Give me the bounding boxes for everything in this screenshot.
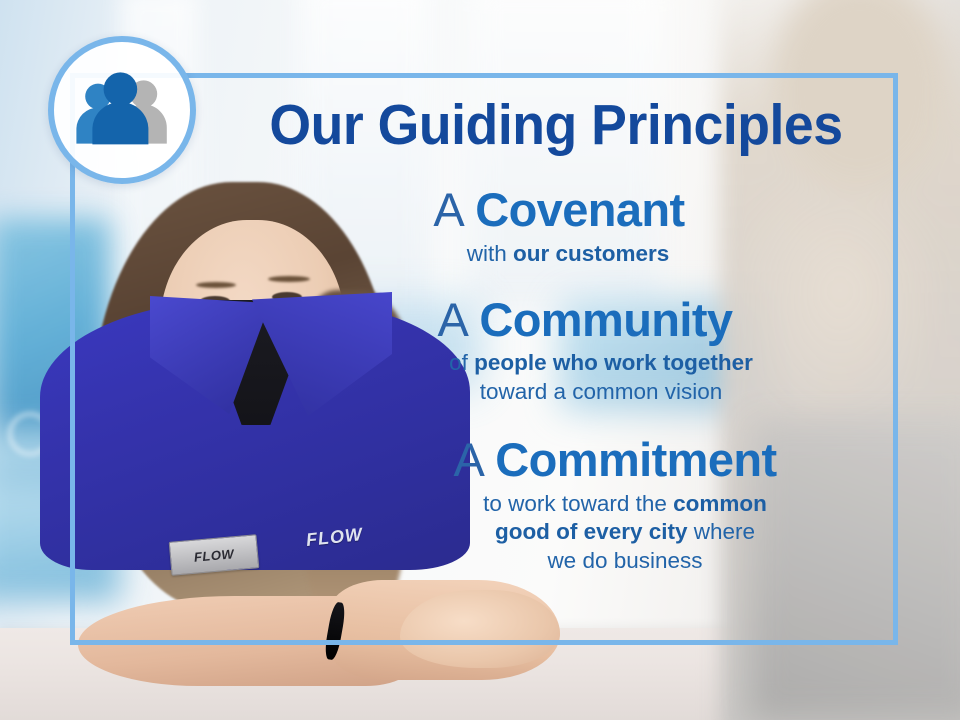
principle-item: A Commitment to work toward the commongo… [300,435,880,576]
principle-description: to work toward the commongood of every c… [300,490,880,576]
plain-text: to work toward the [483,491,673,516]
plain-text: we do business [547,548,702,573]
emphasis-text: common [673,491,767,516]
principle-description-line: good of every city where [370,518,880,547]
principle-heading: A Community [300,295,880,346]
principle-description: with our customers [300,240,880,269]
plain-text: with [467,241,513,266]
page-title: Our Guiding Principles [240,96,872,154]
principle-heading: A Commitment [300,435,880,486]
principle-description-line: of people who work together [322,349,880,378]
banner-stage: FLOW FLOW Our Guiding Principles [0,0,960,720]
emphasis-text: people who work together [474,350,753,375]
principle-description: of people who work togethertoward a comm… [300,349,880,407]
principle-keyword: Commitment [495,433,776,486]
plain-text: where [688,519,756,544]
principle-description-line: we do business [370,547,880,576]
principles-list: A Covenant with our customers A Communit… [300,185,880,582]
principle-keyword: Covenant [475,183,684,236]
name-badge-brand-text: FLOW [193,546,234,564]
group-of-people-badge [48,36,196,184]
principle-item: A Covenant with our customers [300,185,880,269]
principle-description-line: to work toward the common [370,490,880,519]
emphasis-text: our customers [513,241,669,266]
principle-description-line: with our customers [300,240,836,269]
group-of-people-icon [70,70,174,150]
plain-text: toward a common vision [480,379,723,404]
principle-heading: A Covenant [300,185,880,236]
principle-article: A [438,293,467,346]
principle-article: A [453,433,482,486]
emphasis-text: good of every city [495,519,688,544]
principle-description-line: toward a common vision [322,378,880,407]
principle-item: A Community of people who work togethert… [300,295,880,407]
plain-text: of [449,350,474,375]
principle-keyword: Community [479,293,732,346]
clasped-hands [400,590,560,668]
principle-article: A [433,183,462,236]
